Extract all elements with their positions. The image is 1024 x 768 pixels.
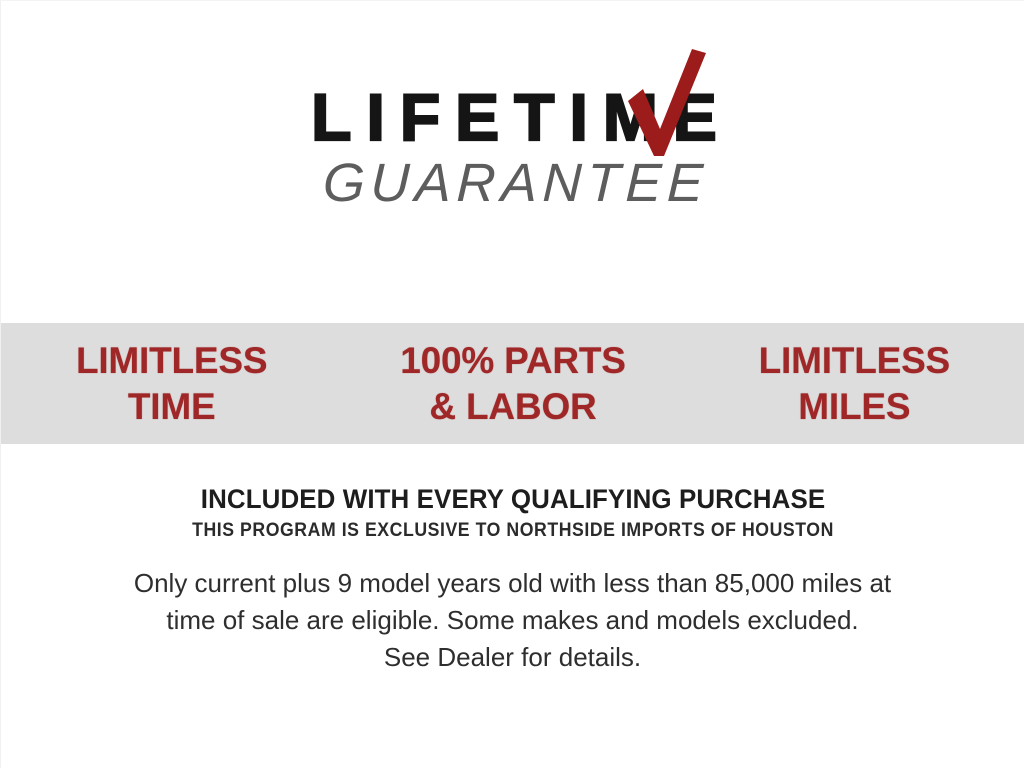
benefit-line-2: MILES: [684, 384, 1024, 430]
logo-wordmark: LIFETIME GUARANTEE: [294, 85, 732, 212]
benefit-line-2: TIME: [1, 384, 342, 430]
benefits-banner: LIMITLESS TIME 100% PARTS & LABOR LIMITL…: [1, 323, 1024, 444]
benefit-line-1: LIMITLESS: [1, 338, 342, 384]
disclaimer-line-3: See Dealer for details.: [48, 639, 978, 676]
benefit-line-2: & LABOR: [342, 384, 683, 430]
logo-block: LIFETIME GUARANTEE: [1, 85, 1024, 212]
lifetime-guarantee-promo-card: LIFETIME GUARANTEE LIMITLESS TIME 100% P…: [0, 0, 1024, 768]
headline-secondary: THIS PROGRAM IS EXCLUSIVE TO NORTHSIDE I…: [37, 520, 989, 543]
logo-lifetime-text: LIFETIME: [294, 85, 732, 150]
disclaimer-line-1: Only current plus 9 model years old with…: [48, 565, 978, 602]
benefit-limitless-miles: LIMITLESS MILES: [684, 338, 1024, 430]
disclaimer-text: Only current plus 9 model years old with…: [48, 565, 978, 676]
benefit-line-1: LIMITLESS: [684, 338, 1024, 384]
headline-group: INCLUDED WITH EVERY QUALIFYING PURCHASE …: [1, 484, 1024, 543]
benefit-parts-and-labor: 100% PARTS & LABOR: [342, 338, 683, 430]
logo-guarantee-text: GUARANTEE: [293, 154, 733, 212]
headline-primary: INCLUDED WITH EVERY QUALIFYING PURCHASE: [21, 484, 1004, 515]
benefit-line-1: 100% PARTS: [342, 338, 683, 384]
benefit-limitless-time: LIMITLESS TIME: [1, 338, 342, 430]
disclaimer-line-2: time of sale are eligible. Some makes an…: [48, 602, 978, 639]
